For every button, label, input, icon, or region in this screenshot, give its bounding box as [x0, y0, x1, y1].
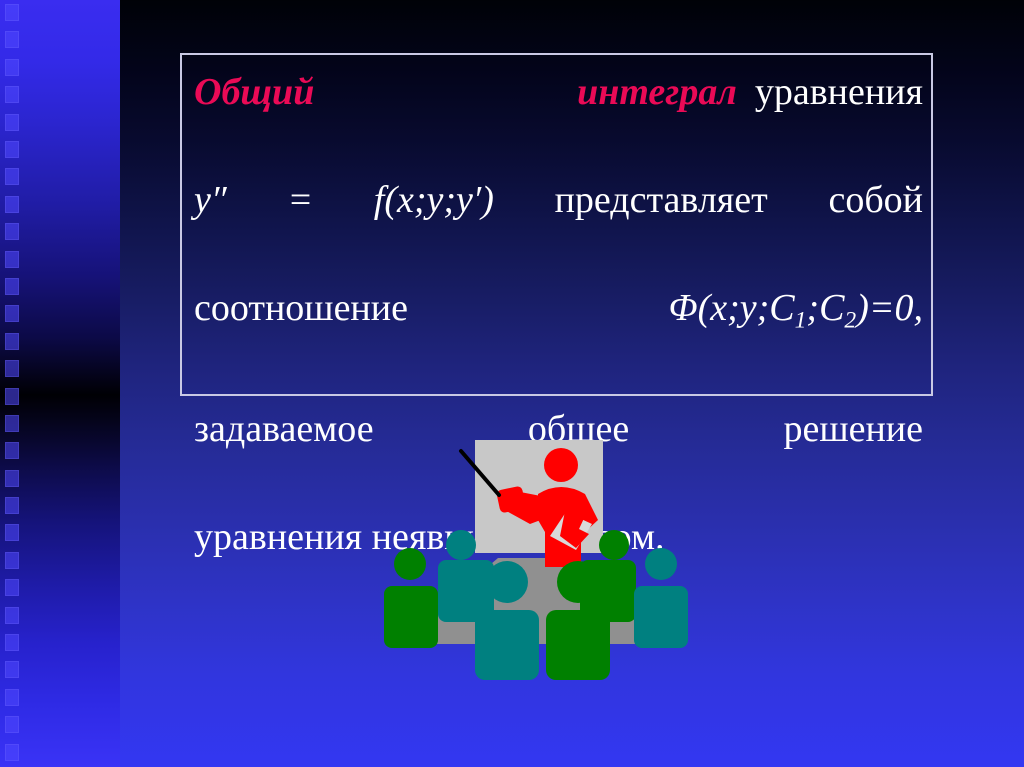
- relation-mid: ;C: [806, 287, 844, 329]
- filmstrip-square: [5, 634, 19, 651]
- filmstrip-square: [5, 497, 19, 514]
- audience-body: [546, 610, 610, 680]
- equation-equals: =: [287, 179, 313, 221]
- line2-rest: представляет собой: [555, 179, 923, 221]
- filmstrip-square: [5, 689, 19, 706]
- line3-word: соотношение: [194, 287, 408, 329]
- filmstrip-square: [5, 305, 19, 322]
- audience-body: [384, 586, 438, 648]
- audience-head: [645, 548, 677, 580]
- filmstrip-square: [5, 360, 19, 377]
- slide-canvas: Общий интегралуравнения y″ = f(x;y;y′) п…: [0, 0, 1024, 767]
- audience-head: [394, 548, 426, 580]
- text-line-2: y″ = f(x;y;y′) представляет собой: [194, 173, 923, 281]
- accent-phrase: Общий интеграл: [194, 71, 737, 113]
- filmstrip-square: [5, 31, 19, 48]
- filmstrip-square: [5, 388, 19, 405]
- filmstrip-square: [5, 86, 19, 103]
- filmstrip-squares-column: [4, 0, 22, 767]
- audience-head: [446, 530, 476, 560]
- content-textbox: Общий интегралуравнения y″ = f(x;y;y′) п…: [180, 53, 933, 396]
- audience-body: [475, 610, 539, 680]
- presenter-head: [544, 448, 578, 482]
- filmstrip-square: [5, 579, 19, 596]
- audience-body: [634, 586, 688, 648]
- filmstrip-square: [5, 470, 19, 487]
- filmstrip-square: [5, 196, 19, 213]
- audience-head: [599, 530, 629, 560]
- filmstrip-square: [5, 141, 19, 158]
- relation-suffix: )=0,: [856, 287, 923, 329]
- line1-rest: уравнения: [755, 71, 923, 113]
- filmstrip-square: [5, 278, 19, 295]
- filmstrip-square: [5, 251, 19, 268]
- text-line-3: соотношение Φ(x;y;C1;C2)=0,: [194, 281, 923, 402]
- audience-head: [557, 561, 599, 603]
- filmstrip-square: [5, 4, 19, 21]
- relation-sub-1: 1: [795, 308, 807, 334]
- filmstrip-square: [5, 114, 19, 131]
- filmstrip-square: [5, 524, 19, 541]
- filmstrip-square: [5, 223, 19, 240]
- text-line-1: Общий интегралуравнения: [194, 65, 923, 173]
- filmstrip-square: [5, 744, 19, 761]
- filmstrip-square: [5, 661, 19, 678]
- equation-lhs: y″: [194, 179, 227, 221]
- lecture-illustration: [370, 428, 700, 698]
- equation-rhs: f(x;y;y′): [374, 179, 494, 221]
- filmstrip-square: [5, 607, 19, 624]
- filmstrip-square: [5, 716, 19, 733]
- filmstrip-square: [5, 59, 19, 76]
- filmstrip-square: [5, 168, 19, 185]
- audience-head: [486, 561, 528, 603]
- relation-prefix: Φ(x;y;C: [669, 287, 795, 329]
- relation-sub-2: 2: [844, 308, 856, 334]
- relation-formula: Φ(x;y;C1;C2)=0,: [669, 287, 923, 329]
- filmstrip-square: [5, 333, 19, 350]
- filmstrip-square: [5, 442, 19, 459]
- filmstrip-square: [5, 415, 19, 432]
- filmstrip-square: [5, 552, 19, 569]
